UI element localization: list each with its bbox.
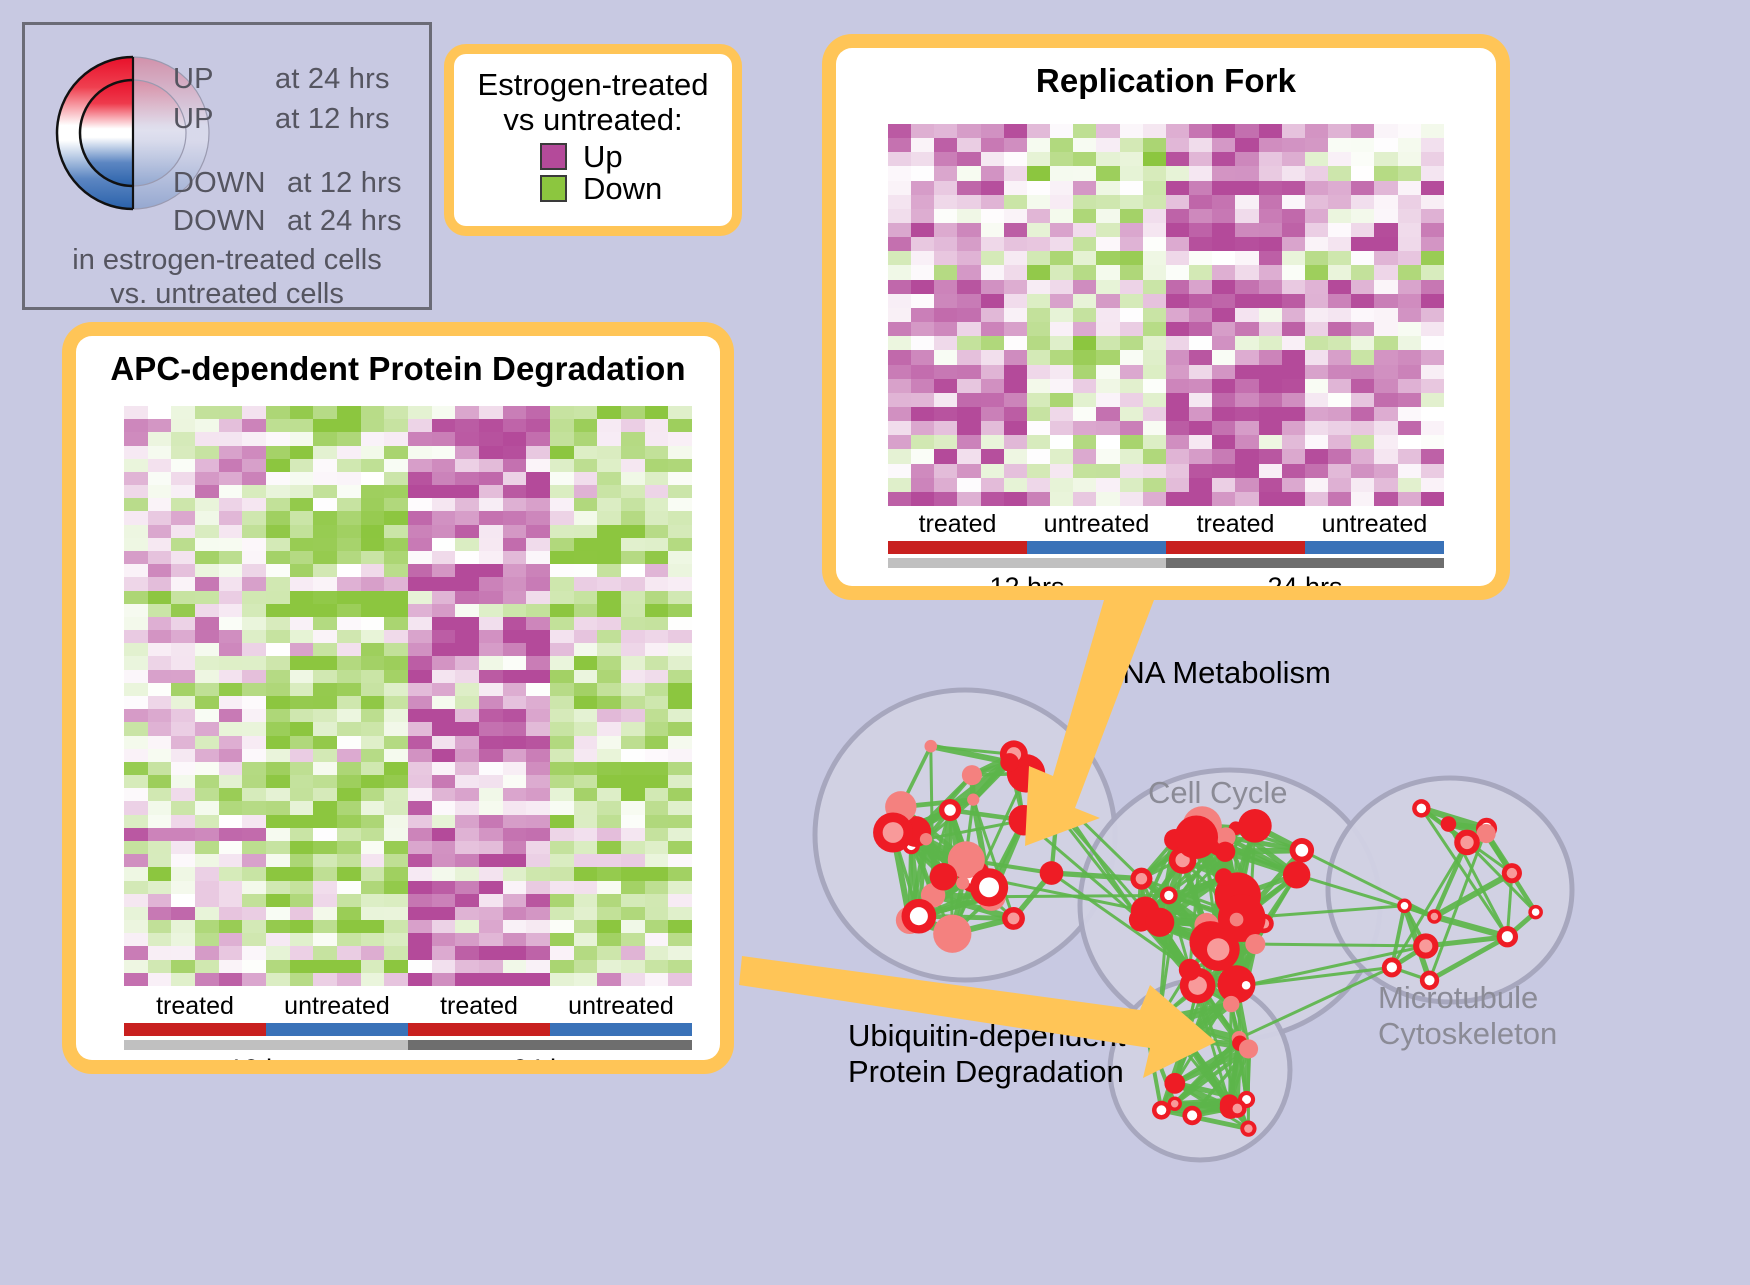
heatmap-cell (337, 775, 361, 788)
heatmap-cell (597, 762, 621, 775)
heatmap-cell (1328, 379, 1351, 393)
heatmap-cell (219, 894, 243, 907)
bar-treated-24 (1166, 541, 1305, 554)
heatmap-cell (408, 788, 432, 801)
heatmap-cell (911, 336, 934, 350)
heatmap-cell (645, 894, 669, 907)
heatmap-cell (550, 881, 574, 894)
heatmap-cell (550, 775, 574, 788)
heatmap-cell (645, 881, 669, 894)
heatmap-cell (290, 854, 314, 867)
heatmap-cell (1212, 237, 1235, 251)
heatmap-cell (957, 209, 980, 223)
heatmap-cell (550, 907, 574, 920)
heatmap-cell (1328, 365, 1351, 379)
heatmap-cell (888, 280, 911, 294)
heatmap-cell (911, 407, 934, 421)
heatmap-cell (1282, 492, 1305, 506)
heatmap-cell (1305, 181, 1328, 195)
heatmap-cell (455, 736, 479, 749)
heatmap-cell (148, 920, 172, 933)
heatmap-cell (1259, 435, 1282, 449)
heatmap-cell (432, 432, 456, 445)
heatmap-cell (455, 538, 479, 551)
time-label-12: 12 hrs (888, 572, 1166, 586)
heatmap-cell (1027, 237, 1050, 251)
heatmap-cell (337, 577, 361, 590)
heatmap-cell (219, 670, 243, 683)
heatmap-cell (1282, 237, 1305, 251)
heatmap-cell (290, 736, 314, 749)
heatmap-cell (526, 960, 550, 973)
heatmap-cell (503, 696, 527, 709)
heatmap-cell (503, 881, 527, 894)
heatmap-cell (911, 322, 934, 336)
heatmap-cell (171, 498, 195, 511)
heatmap-cell (526, 432, 550, 445)
heatmap-cell (1143, 138, 1166, 152)
heatmap-cell (597, 696, 621, 709)
heatmap-cell (503, 564, 527, 577)
heatmap-cell (1398, 209, 1421, 223)
heatmap-cell (432, 683, 456, 696)
heatmap-cell (597, 788, 621, 801)
heatmap-cell (124, 828, 148, 841)
heatmap-cell (888, 138, 911, 152)
heatmap-cell (432, 854, 456, 867)
heatmap-cell (550, 498, 574, 511)
ubiquitin-line2: Protein Degradation (848, 1054, 1126, 1090)
heatmap-cell (597, 564, 621, 577)
heatmap-cell (361, 406, 385, 419)
heatmap-cell (621, 736, 645, 749)
heatmap-cell (645, 670, 669, 683)
heatmap-cell (455, 841, 479, 854)
heatmap-cell (219, 788, 243, 801)
network-node-core (1417, 804, 1427, 814)
heatmap-cell (1421, 464, 1444, 478)
heatmap-cell (1398, 124, 1421, 138)
heatmap-cell (934, 365, 957, 379)
heatmap-cell (621, 670, 645, 683)
heatmap-cell (1351, 308, 1374, 322)
heatmap-cell (313, 973, 337, 986)
heatmap-cell (171, 801, 195, 814)
heatmap-cell (1120, 407, 1143, 421)
heatmap-cell (1235, 280, 1258, 294)
heatmap-cell (503, 683, 527, 696)
heatmap-cell (621, 551, 645, 564)
heatmap-cell (242, 564, 266, 577)
heatmap-cell (1305, 336, 1328, 350)
heatmap-cell (337, 762, 361, 775)
heatmap-cell (574, 538, 598, 551)
heatmap-cell (195, 432, 219, 445)
heatmap-cell (934, 336, 957, 350)
heatmap-cell (313, 656, 337, 669)
heatmap-cell (668, 406, 692, 419)
heatmap-cell (934, 379, 957, 393)
heatmap-cell (621, 459, 645, 472)
heatmap-cell (1166, 124, 1189, 138)
heatmap-cell (1398, 478, 1421, 492)
heatmap-cell (911, 209, 934, 223)
heatmap-cell (1120, 336, 1143, 350)
heatmap-cell (621, 841, 645, 854)
heatmap-cell (645, 973, 669, 986)
heatmap-cell (597, 960, 621, 973)
heatmap-cell (1143, 492, 1166, 506)
network-node (1215, 842, 1235, 862)
heatmap-cell (597, 485, 621, 498)
heatmap-cell (1259, 449, 1282, 463)
heatmap-cell (597, 775, 621, 788)
network-node (1164, 1073, 1185, 1094)
heatmap-cell (526, 591, 550, 604)
heatmap-cell (479, 775, 503, 788)
heatmap-cell (1027, 492, 1050, 506)
heatmap-cell (1050, 379, 1073, 393)
heatmap-cell (219, 815, 243, 828)
heatmap-cell (1096, 365, 1119, 379)
heatmap-cell (981, 379, 1004, 393)
heatmap-cell (503, 472, 527, 485)
heatmap-cell (1166, 365, 1189, 379)
legend-item-up-label: Up (583, 141, 623, 172)
heatmap-cell (408, 617, 432, 630)
heatmap-cell (574, 960, 598, 973)
legend-down-24-time: at 24 hrs (287, 205, 402, 238)
heatmap-cell (171, 419, 195, 432)
axis-group-labels: treated untreated treated untreated (888, 510, 1444, 539)
heatmap-cell (1096, 152, 1119, 166)
heatmap-cell (1351, 124, 1374, 138)
heatmap-cell (888, 421, 911, 435)
heatmap-cell (455, 604, 479, 617)
heatmap-cell (1235, 294, 1258, 308)
heatmap-cell (361, 419, 385, 432)
heatmap-cell (911, 152, 934, 166)
heatmap-cell (337, 591, 361, 604)
heatmap-cell (1073, 336, 1096, 350)
cluster-label-microtubule-cytoskeleton: Microtubule Cytoskeleton (1378, 980, 1557, 1051)
bar-untreated-24 (550, 1023, 692, 1036)
heatmap-cell (361, 472, 385, 485)
heatmap-cell (526, 419, 550, 432)
heatmap-cell (1189, 336, 1212, 350)
heatmap-cell (1027, 421, 1050, 435)
heatmap-cell (911, 421, 934, 435)
heatmap-cell (479, 736, 503, 749)
heatmap-cell (574, 511, 598, 524)
heatmap-cell (645, 630, 669, 643)
heatmap-cell (124, 591, 148, 604)
heatmap-cell (361, 630, 385, 643)
heatmap-cell (361, 762, 385, 775)
heatmap-cell (479, 683, 503, 696)
heatmap-cell (124, 630, 148, 643)
heatmap-cell (1235, 237, 1258, 251)
network-node (933, 915, 971, 953)
heatmap-cell (479, 696, 503, 709)
heatmap-cell (290, 604, 314, 617)
heatmap-cell (1421, 195, 1444, 209)
heatmap-cell (1282, 166, 1305, 180)
heatmap-cell (957, 308, 980, 322)
heatmap-cell (1259, 308, 1282, 322)
heatmap-cell (1328, 124, 1351, 138)
heatmap-cell (1073, 138, 1096, 152)
heatmap-cell (645, 920, 669, 933)
heatmap-cell (432, 894, 456, 907)
heatmap-cell (1143, 124, 1166, 138)
heatmap-cell (1305, 138, 1328, 152)
heatmap-cell (266, 406, 290, 419)
heatmap-cell (1235, 124, 1258, 138)
heatmap-cell (361, 775, 385, 788)
heatmap-cell (1004, 251, 1027, 265)
heatmap-cell (1305, 322, 1328, 336)
heatmap-cell (574, 828, 598, 841)
heatmap-cell (526, 538, 550, 551)
heatmap-cell (290, 459, 314, 472)
heatmap-cell (1212, 435, 1235, 449)
heatmap-cell (337, 630, 361, 643)
heatmap-cell (574, 446, 598, 459)
heatmap-cell (1235, 265, 1258, 279)
heatmap-cell (1143, 464, 1166, 478)
heatmap-cell (1374, 138, 1397, 152)
heatmap-cell (911, 124, 934, 138)
heatmap-cell (934, 251, 957, 265)
heatmap-cell (1305, 464, 1328, 478)
heatmap-cell (1120, 308, 1143, 322)
heatmap-cell (455, 920, 479, 933)
heatmap-cell (526, 604, 550, 617)
network-node-core (1387, 962, 1397, 972)
heatmap-cell (1328, 294, 1351, 308)
heatmap-cell (1143, 195, 1166, 209)
heatmap-cell (645, 960, 669, 973)
heatmap-cell (384, 946, 408, 959)
heatmap-cell (1004, 365, 1027, 379)
heatmap-cell (888, 478, 911, 492)
heatmap-cell (455, 551, 479, 564)
heatmap-cell (597, 973, 621, 986)
heatmap-cell (526, 498, 550, 511)
heatmap-cell (479, 446, 503, 459)
heatmap-cell (981, 407, 1004, 421)
heatmap-cell (337, 788, 361, 801)
heatmap-cell (1259, 294, 1282, 308)
heatmap-cell (981, 492, 1004, 506)
heatmap-cell (432, 538, 456, 551)
heatmap-cell (290, 538, 314, 551)
heatmap-cell (1004, 124, 1027, 138)
heatmap-cell (597, 406, 621, 419)
heatmap-cell (408, 551, 432, 564)
heatmap-cell (361, 683, 385, 696)
heatmap-cell (408, 525, 432, 538)
cluster-label-ubiquitin-degradation: Ubiquitin-dependent Protein Degradation (848, 1018, 1126, 1089)
heatmap-cell (361, 670, 385, 683)
heatmap-cell (574, 907, 598, 920)
heatmap-cell (574, 696, 598, 709)
heatmap-cell (242, 577, 266, 590)
heatmap-cell (408, 736, 432, 749)
heatmap-cell (1374, 237, 1397, 251)
heatmap-cell (1143, 294, 1166, 308)
heatmap-cell (1120, 124, 1143, 138)
heatmap-cell (1398, 280, 1421, 294)
heatmap-cell (597, 551, 621, 564)
heatmap-cell (1050, 478, 1073, 492)
network-node-core (1401, 902, 1409, 910)
heatmap-cell (408, 604, 432, 617)
heatmap-cell (479, 907, 503, 920)
heatmap-cell (313, 683, 337, 696)
heatmap-cell (621, 446, 645, 459)
heatmap-cell (1282, 251, 1305, 265)
heatmap-cell (148, 815, 172, 828)
heatmap-cell (455, 459, 479, 472)
heatmap-cell (668, 801, 692, 814)
heatmap-cell (148, 709, 172, 722)
heatmap-cell (526, 946, 550, 959)
heatmap-cell (1212, 449, 1235, 463)
heatmap-cell (645, 459, 669, 472)
heatmap-cell (645, 643, 669, 656)
estrogen-legend-card: Estrogen-treated vs untreated: Up Down (444, 44, 742, 236)
heatmap-cell (195, 683, 219, 696)
heatmap-cell (1120, 138, 1143, 152)
heatmap-cell (957, 280, 980, 294)
heatmap-cell (1235, 195, 1258, 209)
heatmap-cell (219, 643, 243, 656)
heatmap-cell (574, 867, 598, 880)
heatmap-cell (1212, 294, 1235, 308)
heatmap-cell (1189, 322, 1212, 336)
heatmap-cell (313, 485, 337, 498)
network-svg (800, 620, 1750, 1280)
heatmap-cell (888, 393, 911, 407)
heatmap-cell (1050, 152, 1073, 166)
heatmap-cell (526, 446, 550, 459)
heatmap-cell (574, 459, 598, 472)
axis-time-labels: 12 hrs 24 hrs (888, 572, 1444, 586)
heatmap-cell (1328, 435, 1351, 449)
heatmap-cell (503, 630, 527, 643)
heatmap-cell (219, 485, 243, 498)
heatmap-cell (219, 551, 243, 564)
heatmap-cell (1189, 365, 1212, 379)
heatmap-cell (1421, 379, 1444, 393)
heatmap-cell (574, 564, 598, 577)
heatmap-cell (148, 749, 172, 762)
heatmap-cell (1212, 492, 1235, 506)
heatmap-cell (550, 683, 574, 696)
heatmap-cell (911, 280, 934, 294)
heatmap-cell (1328, 322, 1351, 336)
heatmap-cell (1235, 166, 1258, 180)
heatmap-cell (432, 841, 456, 854)
heatmap-cell (597, 472, 621, 485)
heatmap-cell (1096, 251, 1119, 265)
heatmap-cell (171, 867, 195, 880)
heatmap-cell (242, 604, 266, 617)
heatmap-cell (1305, 393, 1328, 407)
heatmap-cell (981, 294, 1004, 308)
heatmap-cell (1073, 209, 1096, 223)
heatmap-cell (597, 828, 621, 841)
heatmap-cell (242, 696, 266, 709)
heatmap-cell (1421, 166, 1444, 180)
heatmap-cell (888, 336, 911, 350)
heatmap-cell (195, 511, 219, 524)
heatmap-cell (1166, 166, 1189, 180)
heatmap-cell (408, 446, 432, 459)
heatmap-cell (1374, 322, 1397, 336)
heatmap-cell (1120, 280, 1143, 294)
network-node-core (883, 822, 904, 843)
heatmap-cell (1282, 280, 1305, 294)
heatmap-cell (432, 709, 456, 722)
heatmap-cell (934, 195, 957, 209)
heatmap-cell (479, 472, 503, 485)
heatmap-cell (645, 946, 669, 959)
heatmap-cell (1143, 223, 1166, 237)
heatmap-cell (337, 419, 361, 432)
heatmap-cell (432, 525, 456, 538)
heatmap-cell (1235, 223, 1258, 237)
heatmap-cell (219, 656, 243, 669)
heatmap-cell (574, 525, 598, 538)
heatmap-cell (148, 894, 172, 907)
heatmap-cell (934, 464, 957, 478)
heatmap-cell (645, 801, 669, 814)
heatmap-cell (479, 591, 503, 604)
heatmap-cell (219, 446, 243, 459)
heatmap-cell (1259, 152, 1282, 166)
heatmap-cell (668, 828, 692, 841)
heatmap-cell (1073, 464, 1096, 478)
heatmap-cell (1166, 181, 1189, 195)
heatmap-cell (957, 350, 980, 364)
heatmap-cell (408, 801, 432, 814)
heatmap-cell (148, 432, 172, 445)
heatmap-cell (361, 722, 385, 735)
heatmap-cell (432, 446, 456, 459)
heatmap-cell (1050, 280, 1073, 294)
heatmap-cell (242, 854, 266, 867)
heatmap-cell (290, 577, 314, 590)
heatmap-cell (1143, 435, 1166, 449)
heatmap-cell (171, 472, 195, 485)
heatmap-cell (384, 749, 408, 762)
heatmap-cell (384, 683, 408, 696)
heatmap-cell (1374, 294, 1397, 308)
heatmap-cell (1398, 308, 1421, 322)
heatmap-cell (432, 749, 456, 762)
heatmap-cell (195, 907, 219, 920)
heatmap-cell (1050, 322, 1073, 336)
heatmap-cell (361, 498, 385, 511)
heatmap-cell (1143, 322, 1166, 336)
heatmap-cell (171, 696, 195, 709)
heatmap-cell (1189, 350, 1212, 364)
heatmap-cell (148, 933, 172, 946)
heatmap-cell (503, 604, 527, 617)
